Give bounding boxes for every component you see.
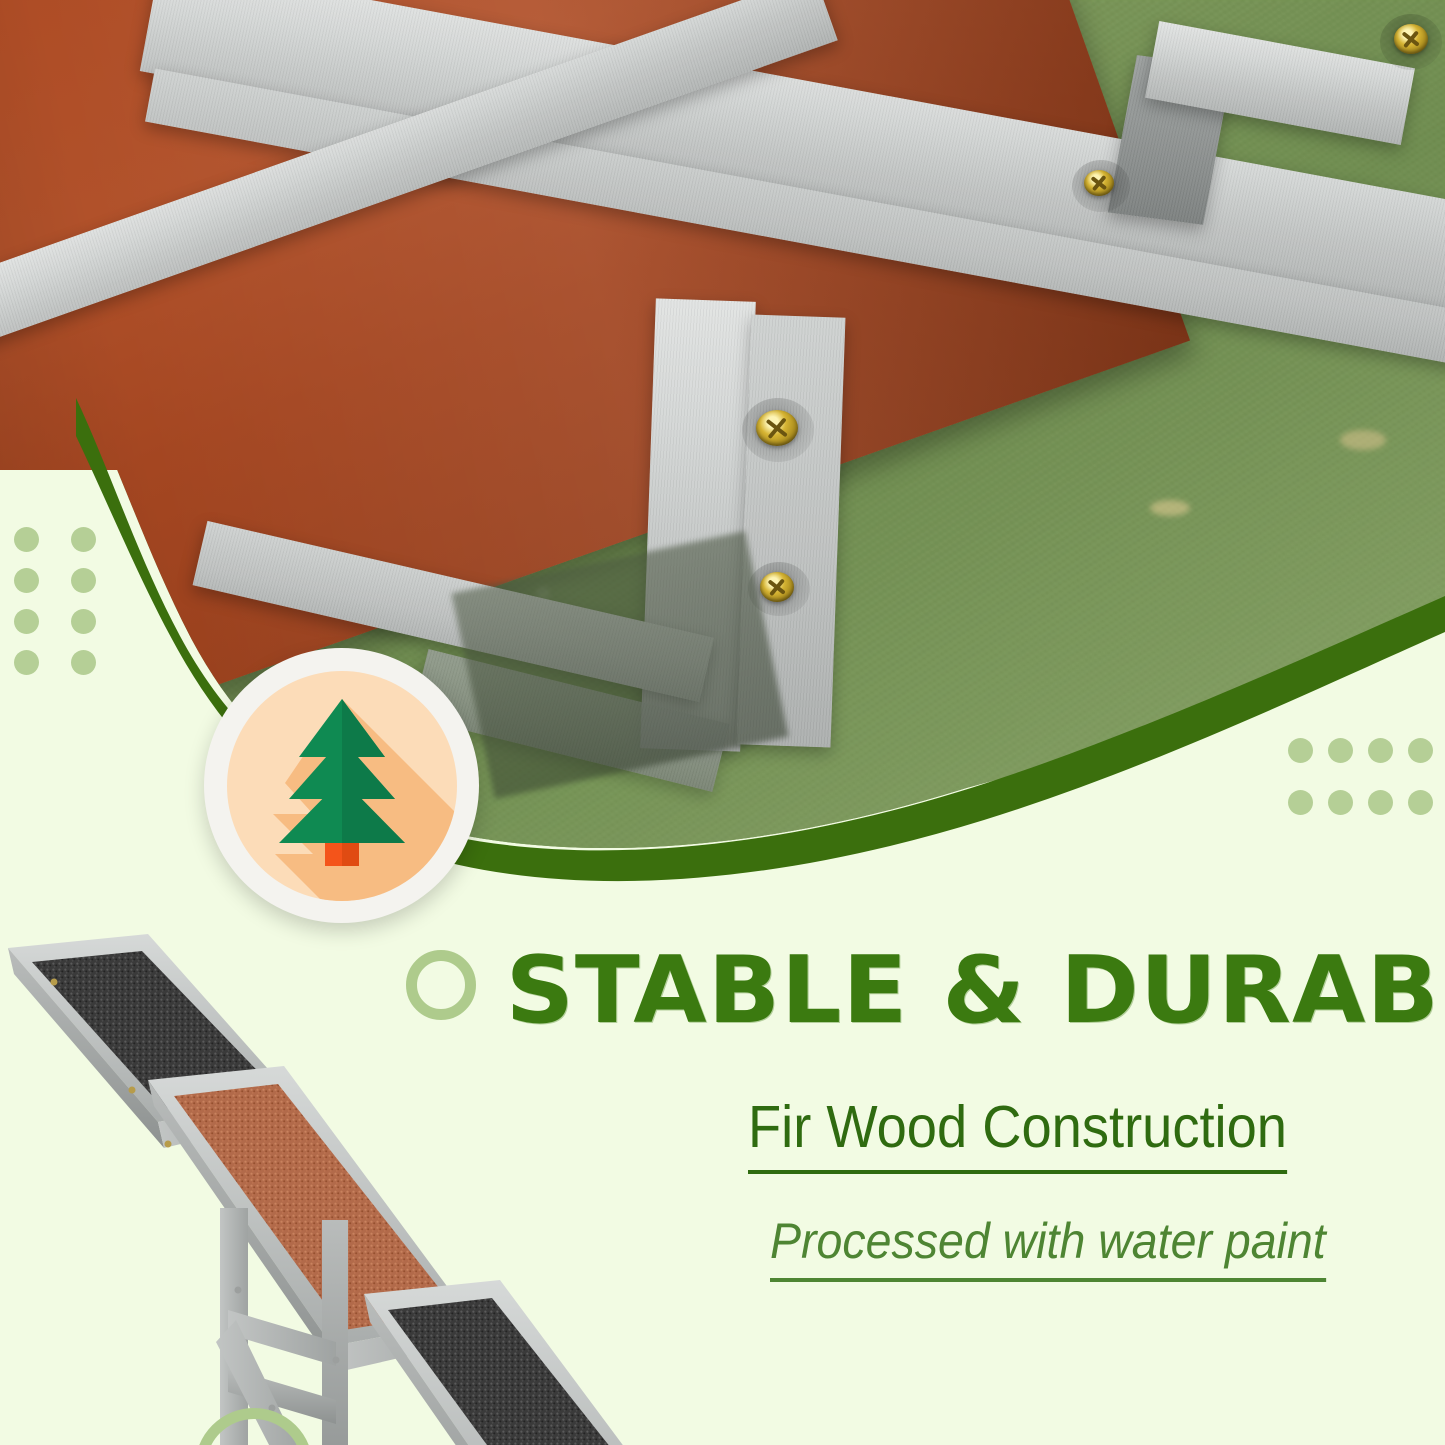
dot [71,527,96,552]
decorative-dots-left [14,527,128,691]
dot [1288,738,1313,763]
screw-icon [1084,170,1114,196]
dot [1328,738,1353,763]
dot [1288,790,1313,815]
fir-tree-badge-inner [227,671,457,901]
grass-straw [1340,430,1386,450]
screw-icon [51,979,58,986]
screw-icon [333,1357,340,1364]
dot [1328,790,1353,815]
page-title: STABLE & DURABLE [506,944,1445,1037]
decorative-dots-right [1288,738,1445,842]
ramp-lower-board [364,1280,716,1445]
feature-line-1: Fir Wood Construction [748,1098,1287,1174]
fir-tree-badge [204,648,479,923]
screw-icon [1394,24,1428,54]
dot [71,568,96,593]
dot [14,527,39,552]
dot [71,650,96,675]
dot [1408,790,1433,815]
dot [14,609,39,634]
screw-icon [129,1087,136,1094]
banner-canvas: STABLE & DURABLE Fir Wood Construction P… [0,0,1445,1445]
dot [1368,790,1393,815]
screw-icon [756,410,798,446]
screw-icon [165,1141,172,1148]
dot [14,650,39,675]
dot [1368,738,1393,763]
grass-straw [1150,500,1190,516]
screw-icon [235,1287,242,1294]
fir-tree-icon [227,671,457,901]
bullet-ring [406,950,476,1020]
feature-line-2: Processed with water paint [770,1216,1326,1282]
dot [1408,738,1433,763]
dot [14,568,39,593]
dot [71,609,96,634]
screw-icon [760,572,794,602]
